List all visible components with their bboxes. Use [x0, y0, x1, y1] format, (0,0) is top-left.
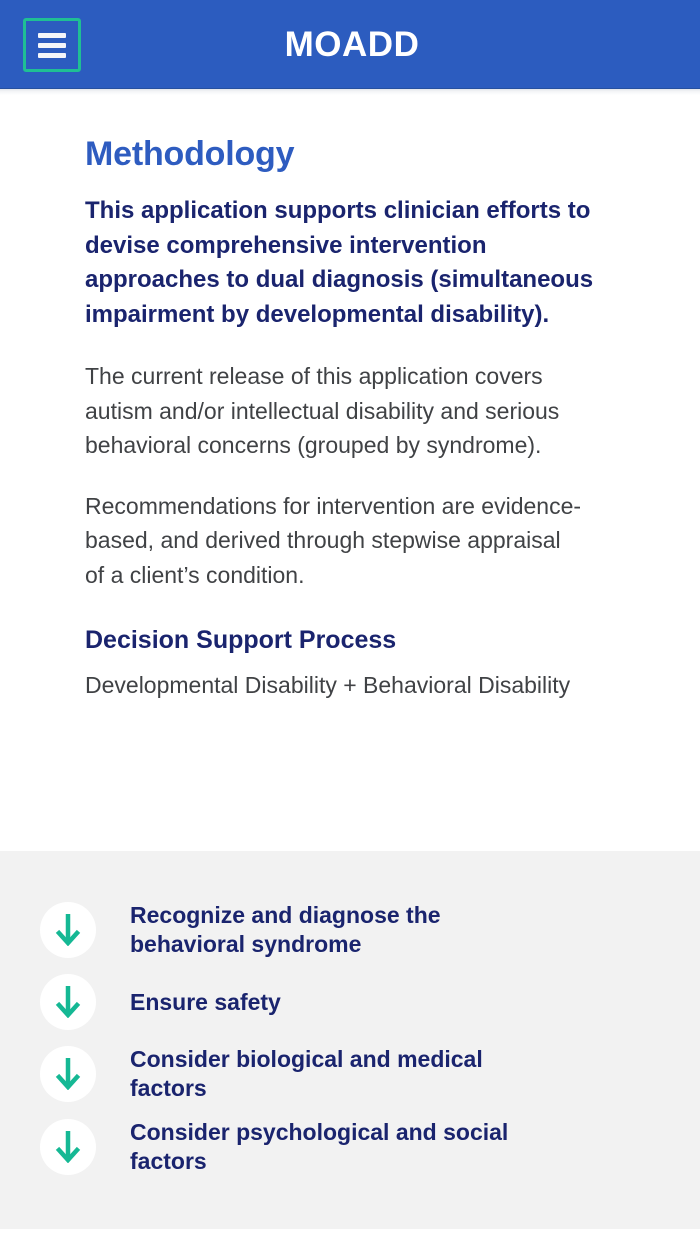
- list-item[interactable]: Consider psychological and social factor…: [40, 1118, 660, 1176]
- list-item-label: Consider biological and medical factors: [130, 1045, 550, 1103]
- app-header: MOADD: [0, 0, 700, 89]
- list-item-label: Recognize and diagnose the behavioral sy…: [130, 901, 550, 959]
- arrow-down-icon[interactable]: [40, 1119, 96, 1175]
- list-item[interactable]: Ensure safety: [40, 974, 660, 1030]
- body-paragraph-1: The current release of this application …: [85, 359, 585, 463]
- body-paragraph-2: Recommendations for intervention are evi…: [85, 489, 585, 593]
- page-title: Methodology: [85, 135, 615, 174]
- list-item[interactable]: Recognize and diagnose the behavioral sy…: [40, 901, 660, 959]
- app-root: MOADD Methodology This application suppo…: [0, 0, 700, 1244]
- list-item[interactable]: Consider biological and medical factors: [40, 1045, 660, 1103]
- hamburger-bar-bottom: [38, 53, 66, 58]
- methodology-section: Methodology This application supports cl…: [0, 95, 700, 851]
- arrow-down-icon[interactable]: [40, 1046, 96, 1102]
- lead-paragraph: This application supports clinician effo…: [85, 194, 605, 332]
- hamburger-bar-top: [38, 33, 66, 38]
- list-item-label: Ensure safety: [130, 988, 281, 1017]
- subsection-paragraph: Developmental Disability + Behavioral Di…: [85, 668, 585, 702]
- arrow-down-icon[interactable]: [40, 974, 96, 1030]
- bottom-spacer: [0, 1229, 700, 1244]
- app-title: MOADD: [0, 27, 700, 62]
- hamburger-menu-icon[interactable]: [23, 18, 81, 72]
- arrow-down-icon[interactable]: [40, 902, 96, 958]
- decision-steps-list: Recognize and diagnose the behavioral sy…: [0, 851, 700, 1229]
- list-item-label: Consider psychological and social factor…: [130, 1118, 550, 1176]
- hamburger-bar-middle: [38, 43, 66, 48]
- subsection-title: Decision Support Process: [85, 626, 615, 655]
